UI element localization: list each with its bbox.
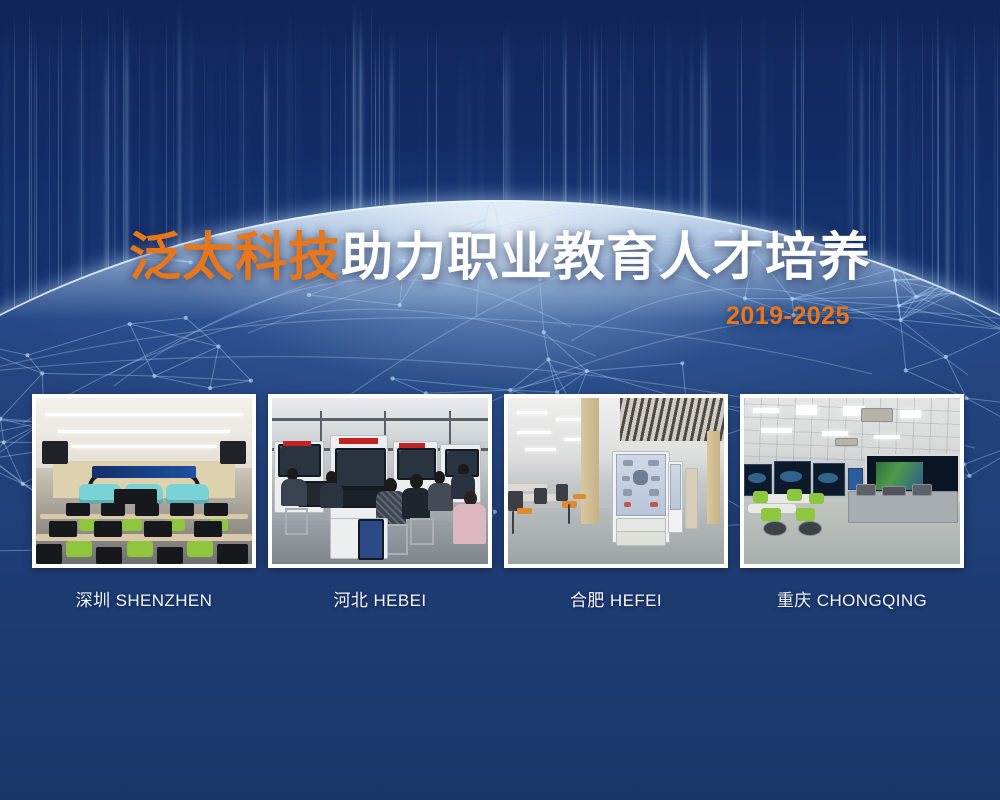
gallery-card[interactable]: 重庆 CHONGQING <box>740 394 964 611</box>
title-block: 泛太科技助力职业教育人才培养 2019-2025 <box>0 232 1000 331</box>
page-title: 泛太科技助力职业教育人才培养 <box>0 232 1000 284</box>
photo-hebei <box>268 394 492 568</box>
caption-hefei: 合肥 HEFEI <box>504 586 728 611</box>
caption-hebei: 河北 HEBEI <box>268 586 492 611</box>
caption-shenzhen: 深圳 SHENZHEN <box>32 586 256 611</box>
photo-hefei <box>504 394 728 568</box>
gallery-card[interactable]: 深圳 SHENZHEN <box>32 394 256 611</box>
gallery-card[interactable]: 河北 HEBEI <box>268 394 492 611</box>
title-rest: 助力职业教育人才培养 <box>341 228 871 288</box>
subtitle-years: 2019-2025 <box>0 302 1000 331</box>
poster-stage: 泛太科技助力职业教育人才培养 2019-2025 <box>0 0 1000 800</box>
gallery-card[interactable]: 合肥 HEFEI <box>504 394 728 611</box>
photo-chongqing <box>740 394 964 568</box>
caption-chongqing: 重庆 CHONGQING <box>740 586 964 611</box>
photo-shenzhen <box>32 394 256 568</box>
title-brand: 泛太科技 <box>129 228 341 288</box>
photo-strip: 深圳 SHENZHEN <box>32 394 964 611</box>
